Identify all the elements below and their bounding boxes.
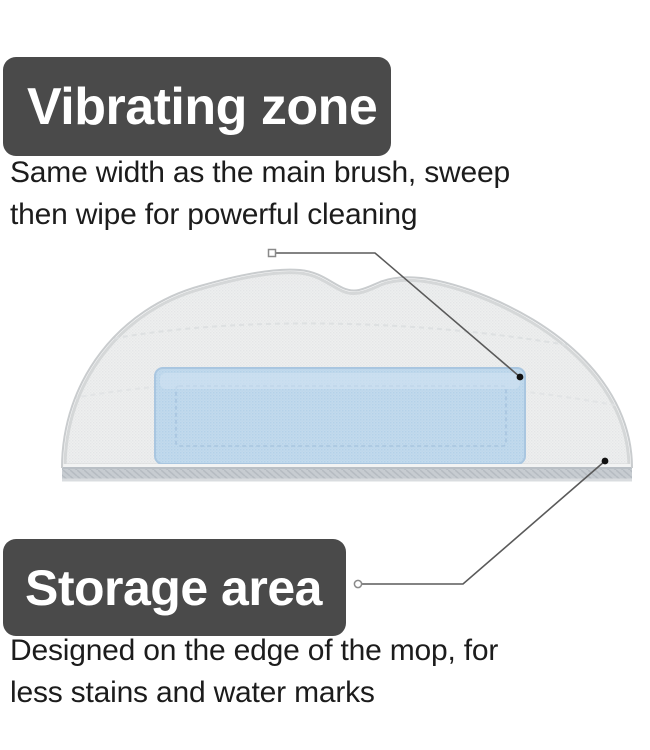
mop-body [0, 230, 650, 500]
caption-storage-area: Designed on the edge of the mop, for les… [10, 630, 630, 714]
badge-storage-area: Storage area [3, 539, 346, 636]
badge-vibrating-zone-label: Vibrating zone [27, 81, 377, 133]
vibrating-pad [155, 368, 525, 464]
badge-vibrating-zone: Vibrating zone [3, 57, 391, 156]
product-image [0, 230, 650, 500]
mop-pad-illustration [0, 230, 650, 500]
product-feature-infographic: Vibrating zone Same width as the main br… [0, 0, 650, 750]
badge-storage-area-label: Storage area [25, 563, 322, 613]
caption-vibrating-zone: Same width as the main brush, sweep then… [10, 152, 630, 236]
callout-start-marker-storage [354, 580, 361, 587]
